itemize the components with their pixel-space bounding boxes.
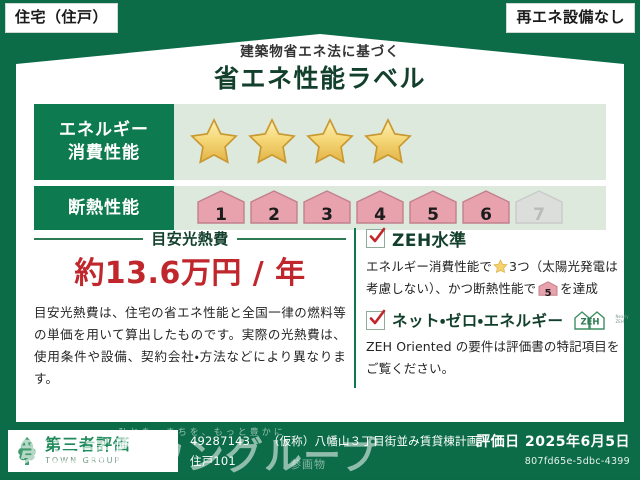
svg-text:ZEH: ZEH <box>580 318 599 328</box>
label-card: 建築物省エネ法に基づく 省エネ性能ラベル エネルギー 消費性能 断熱性能 123 <box>16 34 624 422</box>
energy-label-screen: 住宅（住戸） 再エネ設備なし 建築物省エネ法に基づく 省エネ性能ラベル エネルギ… <box>0 0 640 478</box>
insulation-scale: 1234567 <box>196 189 564 227</box>
evaluation-date-label: 評価日 <box>476 434 520 450</box>
insulation-level-value: 6 <box>480 205 492 225</box>
checkbox-checked-icon <box>366 229 385 248</box>
energy-label-line1: エネルギー <box>59 119 149 142</box>
certification-column: ZEH水準 エネルギー消費性能で3つ（太陽光発電は考慮しない）、かつ断熱性能で5… <box>366 226 629 390</box>
insulation-level-value: 3 <box>321 205 333 225</box>
insulation-level-value: 2 <box>268 205 280 225</box>
insulation-level-2: 2 <box>249 189 299 227</box>
column-divider <box>354 228 356 388</box>
footer-info-line2: 住戸101 <box>190 452 478 472</box>
check-net-zero-energy: ネット・ゼロ・エネルギー ZEH NearlyZEH ZEH Oriented … <box>366 309 629 379</box>
insulation-badge-value: 5 <box>545 288 552 299</box>
star-icon <box>304 117 356 167</box>
insulation-level-value: 4 <box>374 205 386 225</box>
title-subtitle: 建築物省エネ法に基づく <box>16 44 624 60</box>
insulation-performance-label: 断熱性能 <box>34 186 174 230</box>
zeh-house-icon: ZEH <box>573 309 607 331</box>
star-icon <box>493 259 508 274</box>
zeh-desc-part3: を達成 <box>560 281 598 296</box>
net-zero-desc: ZEH Oriented の要件は評価書の特記項目をご覧ください。 <box>366 336 629 379</box>
title-main: 省エネ性能ラベル <box>16 63 624 94</box>
zeh-standard-label: ZEH水準 <box>392 226 467 251</box>
insulation-performance-value: 1234567 <box>174 186 606 230</box>
energy-label-line2: 消費性能 <box>59 142 149 165</box>
star-icon <box>188 117 240 167</box>
insulation-level-value: 1 <box>215 205 227 225</box>
evaluation-date: 評価日 2025年6月5日 <box>476 431 630 451</box>
cost-value: 約13.6万円 / 年 <box>34 257 346 290</box>
cost-column: 目安光熱費 約13.6万円 / 年 目安光熱費は、住宅の省エネ性能と全国一律の燃… <box>34 226 352 390</box>
cost-heading-text: 目安光熱費 <box>151 228 229 249</box>
zeh-standard-desc: エネルギー消費性能で3つ（太陽光発電は考慮しない）、かつ断熱性能で5を達成 <box>366 256 629 299</box>
town-group-logo: 第三者評価 TOWN GROUP <box>8 430 178 472</box>
cost-rule-left <box>34 238 143 240</box>
insulation-level-3: 3 <box>302 189 352 227</box>
net-zero-title-row: ネット・ゼロ・エネルギー ZEH NearlyZEH <box>366 309 629 331</box>
insulation-level-value: 7 <box>533 205 545 225</box>
row-insulation-performance: 断熱性能 1234567 <box>34 186 606 230</box>
evaluation-date-value: 2025年6月5日 <box>525 434 630 450</box>
insulation-level-6: 6 <box>461 189 511 227</box>
cost-note: 目安光熱費は、住宅の省エネ性能と全国一律の燃料等の単価を用いて算出したものです。… <box>34 302 346 390</box>
footer-evaluation: 評価日 2025年6月5日 807fd65e-5dbc-4399 <box>476 431 630 467</box>
insulation-badge-icon: 5 <box>538 281 558 296</box>
star-icon <box>362 117 414 167</box>
cost-rule-right <box>237 238 346 240</box>
tree-icon <box>14 436 40 466</box>
cost-heading: 目安光熱費 <box>34 228 346 249</box>
zeh-standard-title-row: ZEH水準 <box>366 226 629 251</box>
insulation-level-1: 1 <box>196 189 246 227</box>
tag-renewable-equipment: 再エネ設備なし <box>507 4 634 32</box>
footer-bar: 第三者評価 TOWN GROUP 49287143 （仮称）八幡山３丁目街並み賃… <box>0 422 640 478</box>
zeh-desc-part1: エネルギー消費性能で <box>366 259 492 274</box>
document-id: 807fd65e-5dbc-4399 <box>476 456 630 467</box>
label-title: 建築物省エネ法に基づく 省エネ性能ラベル <box>16 44 624 94</box>
logo-title: 第三者評価 <box>45 437 130 453</box>
star-rating <box>188 117 414 167</box>
energy-performance-label: エネルギー 消費性能 <box>34 104 174 180</box>
tag-building-type: 住宅（住戸） <box>6 4 117 32</box>
footer-project-info: 49287143 （仮称）八幡山３丁目街並み賃貸棟計画 住戸101 <box>190 432 478 471</box>
footer-info-line1: 49287143 （仮称）八幡山３丁目街並み賃貸棟計画 <box>190 432 478 452</box>
star-icon <box>246 117 298 167</box>
logo-text: 第三者評価 TOWN GROUP <box>45 437 130 465</box>
energy-performance-value <box>174 104 606 180</box>
check-zeh-standard: ZEH水準 エネルギー消費性能で3つ（太陽光発電は考慮しない）、かつ断熱性能で5… <box>366 226 629 299</box>
logo-subtitle: TOWN GROUP <box>45 457 130 465</box>
zeh-badge-caption: NearlyZEH <box>616 315 629 324</box>
insulation-level-7: 7 <box>514 189 564 227</box>
insulation-level-5: 5 <box>408 189 458 227</box>
detail-columns: 目安光熱費 約13.6万円 / 年 目安光熱費は、住宅の省エネ性能と全国一律の燃… <box>34 226 606 390</box>
checkbox-checked-icon <box>366 311 385 330</box>
net-zero-label: ネット・ゼロ・エネルギー <box>392 309 564 331</box>
performance-table: エネルギー 消費性能 断熱性能 1234567 <box>34 104 606 236</box>
row-energy-performance: エネルギー 消費性能 <box>34 104 606 180</box>
insulation-level-4: 4 <box>355 189 405 227</box>
insulation-level-value: 5 <box>427 205 439 225</box>
